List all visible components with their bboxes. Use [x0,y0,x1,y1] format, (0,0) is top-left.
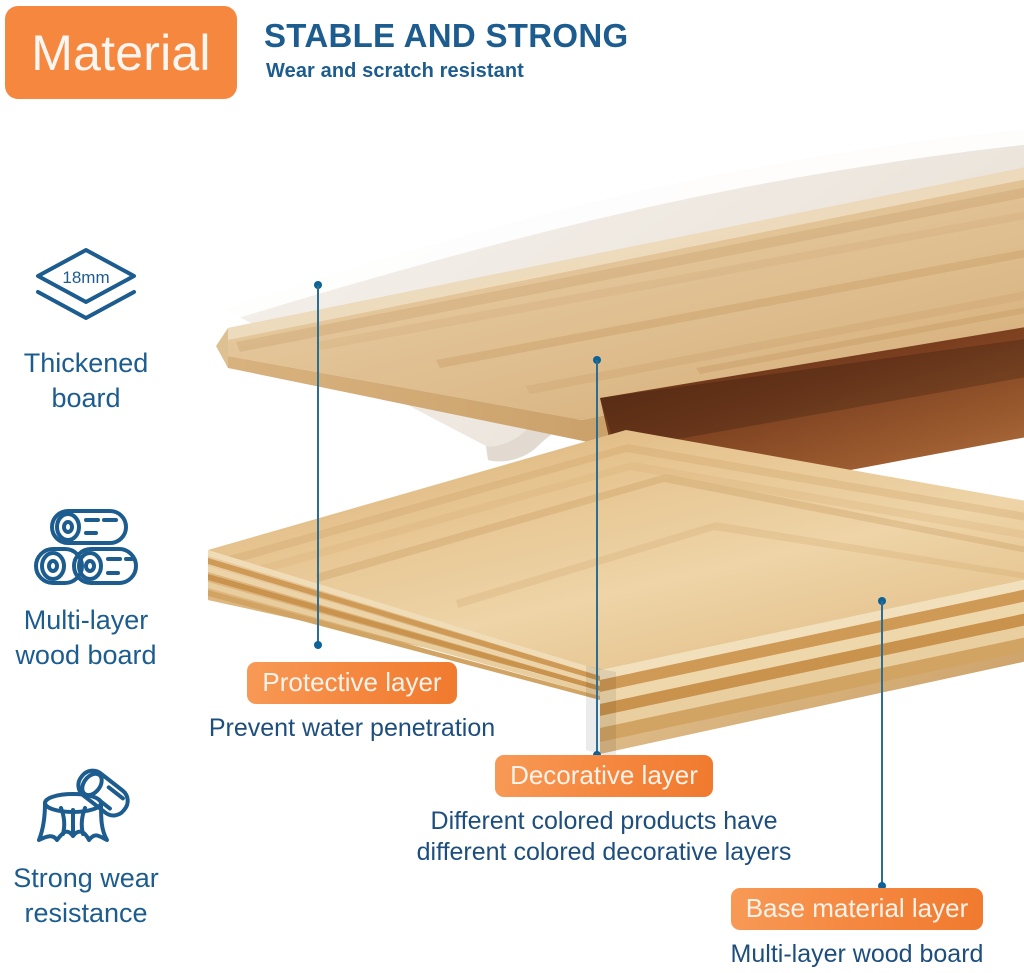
layered-board-18mm-icon: 18mm [0,237,186,342]
leader-line-decorative [593,356,602,759]
callout-caption: Multi-layer wood board [692,939,1022,970]
callout-badge: Protective layer [247,662,456,704]
feature-strong-wear-resistance: Strong wear resistance [0,752,186,930]
infographic-canvas: Material STABLE AND STRONG Wear and scra… [0,0,1024,973]
thickness-value: 18mm [62,268,109,287]
header-badge-label: Material [31,28,210,78]
stacked-logs-icon [0,494,186,599]
callout-protective-layer: Protective layer Prevent water penetrati… [187,662,517,744]
feature-multi-layer-wood-board: Multi-layer wood board [0,494,186,672]
feature-label: Thickened board [0,346,186,415]
callout-decorative-layer: Decorative layer Different colored produ… [404,755,804,867]
feature-label: Multi-layer wood board [0,603,186,672]
callout-caption: Prevent water penetration [187,713,517,744]
page-title: STABLE AND STRONG [264,19,628,54]
leader-line-protective [314,281,323,649]
leader-stem [596,360,598,755]
feature-label: Strong wear resistance [0,861,186,930]
leader-stem [881,601,883,886]
leader-stem [317,285,319,645]
callout-badge: Decorative layer [495,755,713,797]
leader-dot-label [314,641,322,649]
page-subtitle: Wear and scratch resistant [266,60,524,83]
header-badge: Material [5,6,237,99]
feature-thickened-board: 18mm Thickened board [0,237,186,415]
callout-caption: Different colored products have differen… [404,806,804,867]
tree-stump-log-icon [0,752,186,857]
callout-badge: Base material layer [731,888,984,930]
callout-base-material-layer: Base material layer Multi-layer wood boa… [692,888,1022,970]
leader-line-base [878,597,887,890]
